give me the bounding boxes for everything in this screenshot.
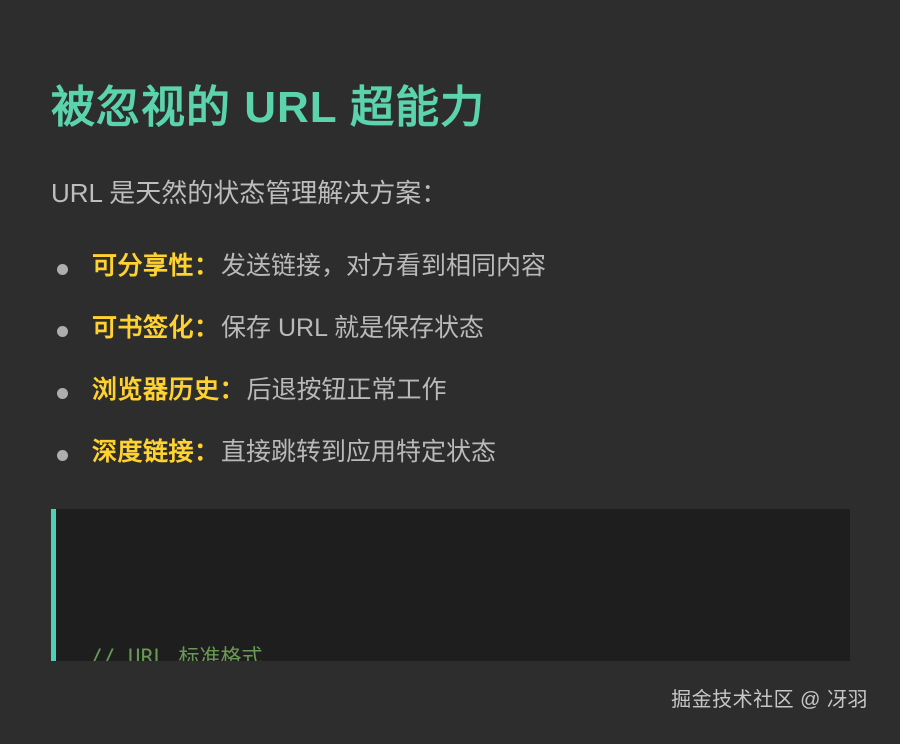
bullet-dot-icon [57,388,68,399]
page-subtitle: URL 是天然的状态管理解决方案： [51,177,447,211]
bullet-list: 可分享性 ： 发送链接，对方看到相同内容 可书签化 ： 保存 URL 就是保存状… [51,246,851,494]
list-item-description: 后退按钮正常工作 [247,370,447,406]
code-content: // URL 标准格式 <scheme>://<netloc>/<path>?<… [56,509,850,661]
list-item-separator: ： [194,246,219,282]
page-title: 被忽视的 URL 超能力 [51,80,485,135]
slide-canvas: 被忽视的 URL 超能力 URL 是天然的状态管理解决方案： 可分享性 ： 发送… [0,0,900,744]
list-item-description: 保存 URL 就是保存状态 [221,308,484,344]
list-item-term: 深度链接 [92,432,194,468]
bullet-dot-icon [57,326,68,337]
list-item-term: 可分享性 [92,246,194,282]
list-item: 可书签化 ： 保存 URL 就是保存状态 [51,308,851,370]
code-block: // URL 标准格式 <scheme>://<netloc>/<path>?<… [51,509,850,661]
bullet-dot-icon [57,264,68,275]
list-item-term: 可书签化 [92,308,194,344]
bullet-dot-icon [57,450,68,461]
list-item: 浏览器历史 ： 后退按钮正常工作 [51,370,851,432]
list-item-description: 发送链接，对方看到相同内容 [221,246,546,282]
footer-attribution: 掘金技术社区 @ 冴羽 [671,683,868,712]
list-item-separator: ： [220,370,245,406]
list-item-separator: ： [194,432,219,468]
list-item: 深度链接 ： 直接跳转到应用特定状态 [51,432,851,494]
list-item-term: 浏览器历史 [92,370,220,406]
list-item-description: 直接跳转到应用特定状态 [221,432,496,468]
list-item: 可分享性 ： 发送链接，对方看到相同内容 [51,246,851,308]
list-item-separator: ： [194,308,219,344]
code-comment-line: // URL 标准格式 [90,634,850,661]
